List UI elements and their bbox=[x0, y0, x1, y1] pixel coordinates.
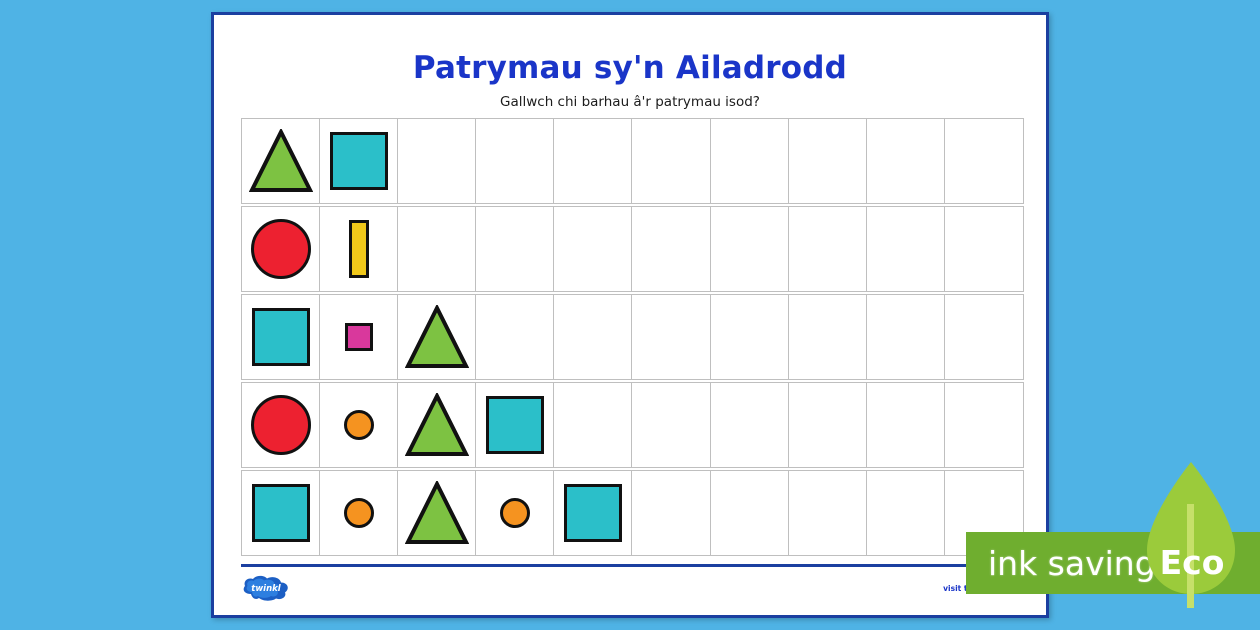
pattern-cell-empty[interactable] bbox=[632, 471, 710, 555]
pattern-cell-empty[interactable] bbox=[632, 119, 710, 203]
pattern-cell-triangle[interactable] bbox=[398, 383, 476, 467]
pattern-cell-empty[interactable] bbox=[945, 295, 1023, 379]
footer-divider bbox=[241, 564, 1024, 567]
pattern-cell-circle[interactable] bbox=[242, 383, 320, 467]
pattern-cell-square[interactable] bbox=[320, 119, 398, 203]
rectangle-shape bbox=[349, 220, 369, 278]
pattern-cell-empty[interactable] bbox=[789, 471, 867, 555]
pattern-cell-empty[interactable] bbox=[711, 471, 789, 555]
pattern-cell-empty[interactable] bbox=[554, 383, 632, 467]
triangle-shape bbox=[405, 481, 469, 545]
worksheet-footer: twinkl visit twinkl.cy bbox=[241, 571, 1024, 605]
twinkl-logo-icon: twinkl bbox=[241, 574, 291, 602]
pattern-cell-empty[interactable] bbox=[945, 207, 1023, 291]
pattern-cell-empty[interactable] bbox=[398, 119, 476, 203]
pattern-cell-empty[interactable] bbox=[554, 119, 632, 203]
circle-shape bbox=[344, 410, 374, 440]
page-subtitle: Gallwch chi barhau â'r patrymau isod? bbox=[214, 94, 1046, 110]
pattern-cell-empty[interactable] bbox=[789, 295, 867, 379]
worksheet-page: Patrymau sy'n Ailadrodd Gallwch chi barh… bbox=[211, 12, 1049, 618]
pattern-cell-empty[interactable] bbox=[711, 119, 789, 203]
page-title: Patrymau sy'n Ailadrodd bbox=[214, 51, 1046, 85]
pattern-grid bbox=[241, 118, 1024, 558]
square-shape bbox=[252, 484, 310, 542]
pattern-cell-empty[interactable] bbox=[476, 119, 554, 203]
svg-text:twinkl: twinkl bbox=[251, 584, 282, 594]
pattern-row bbox=[241, 206, 1024, 292]
pattern-cell-empty[interactable] bbox=[554, 207, 632, 291]
pattern-cell-empty[interactable] bbox=[945, 383, 1023, 467]
pattern-cell-triangle[interactable] bbox=[242, 119, 320, 203]
pattern-cell-square[interactable] bbox=[554, 471, 632, 555]
pattern-row bbox=[241, 382, 1024, 468]
square-shape bbox=[564, 484, 622, 542]
square-shape bbox=[486, 396, 544, 454]
pattern-cell-empty[interactable] bbox=[554, 295, 632, 379]
pattern-row bbox=[241, 470, 1024, 556]
pattern-cell-empty[interactable] bbox=[632, 207, 710, 291]
pattern-cell-square[interactable] bbox=[476, 383, 554, 467]
pattern-cell-empty[interactable] bbox=[711, 383, 789, 467]
pattern-cell-empty[interactable] bbox=[632, 383, 710, 467]
pattern-cell-circle[interactable] bbox=[320, 383, 398, 467]
circle-shape bbox=[251, 219, 311, 279]
triangle-shape bbox=[249, 129, 313, 193]
pattern-cell-circle[interactable] bbox=[476, 471, 554, 555]
circle-shape bbox=[251, 395, 311, 455]
pattern-cell-empty[interactable] bbox=[867, 383, 945, 467]
pattern-cell-empty[interactable] bbox=[867, 295, 945, 379]
pattern-row bbox=[241, 118, 1024, 204]
pattern-cell-empty[interactable] bbox=[398, 207, 476, 291]
pattern-cell-triangle[interactable] bbox=[398, 295, 476, 379]
pattern-cell-square[interactable] bbox=[242, 295, 320, 379]
pattern-cell-empty[interactable] bbox=[632, 295, 710, 379]
eco-badge-label: ink saving bbox=[966, 544, 1156, 583]
pattern-cell-square[interactable] bbox=[320, 295, 398, 379]
pattern-cell-triangle[interactable] bbox=[398, 471, 476, 555]
pattern-cell-empty[interactable] bbox=[945, 119, 1023, 203]
square-shape bbox=[345, 323, 373, 351]
pattern-cell-empty[interactable] bbox=[476, 207, 554, 291]
pattern-cell-empty[interactable] bbox=[711, 295, 789, 379]
pattern-cell-empty[interactable] bbox=[476, 295, 554, 379]
pattern-cell-empty[interactable] bbox=[789, 383, 867, 467]
pattern-cell-empty[interactable] bbox=[867, 207, 945, 291]
triangle-shape bbox=[405, 305, 469, 369]
pattern-cell-circle[interactable] bbox=[320, 471, 398, 555]
pattern-cell-square[interactable] bbox=[242, 471, 320, 555]
square-shape bbox=[252, 308, 310, 366]
pattern-cell-empty[interactable] bbox=[867, 471, 945, 555]
triangle-shape bbox=[405, 393, 469, 457]
circle-shape bbox=[344, 498, 374, 528]
pattern-cell-circle[interactable] bbox=[242, 207, 320, 291]
pattern-cell-empty[interactable] bbox=[789, 207, 867, 291]
pattern-row bbox=[241, 294, 1024, 380]
circle-shape bbox=[500, 498, 530, 528]
pattern-cell-rectangle[interactable] bbox=[320, 207, 398, 291]
pattern-cell-empty[interactable] bbox=[867, 119, 945, 203]
eco-leaf-label: Eco bbox=[1152, 543, 1232, 582]
worksheet-header: Patrymau sy'n Ailadrodd Gallwch chi barh… bbox=[214, 15, 1046, 110]
pattern-cell-empty[interactable] bbox=[789, 119, 867, 203]
square-shape bbox=[330, 132, 388, 190]
pattern-cell-empty[interactable] bbox=[711, 207, 789, 291]
